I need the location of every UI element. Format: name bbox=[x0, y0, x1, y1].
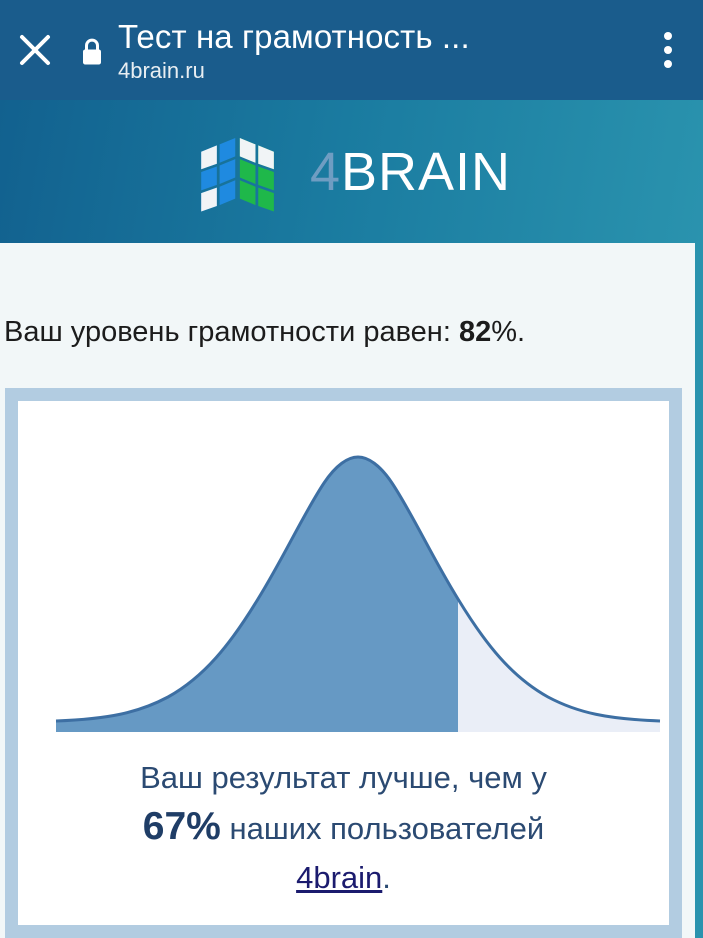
cube-logo-icon[interactable] bbox=[192, 126, 284, 218]
score-prefix: Ваш уровень грамотности равен: bbox=[4, 316, 451, 348]
caption-line-1: Ваш результат лучше, чем у bbox=[18, 753, 669, 802]
brand-word: BRAIN bbox=[341, 142, 511, 202]
brand-link[interactable]: 4brain bbox=[296, 860, 382, 895]
percentile-value: 67% bbox=[143, 805, 221, 848]
brand-number: 4 bbox=[310, 142, 341, 202]
site-header-banner: 4BRAIN bbox=[0, 100, 703, 243]
caption-line-2: 67% наших пользователей bbox=[18, 802, 669, 853]
page-content: Ваш уровень грамотности равен: 82%. bbox=[0, 243, 695, 938]
percentile-caption: Ваш результат лучше, чем у 67% наших пол… bbox=[18, 753, 669, 902]
caption-line-2-rest: наших пользователей bbox=[229, 811, 544, 846]
close-icon bbox=[15, 30, 55, 70]
caption-line-3: 4brain. bbox=[18, 853, 669, 902]
close-button[interactable] bbox=[0, 0, 70, 100]
score-value: 82 bbox=[459, 316, 491, 348]
bell-curve-chart bbox=[18, 401, 669, 748]
score-suffix: %. bbox=[491, 316, 525, 348]
page-url: 4brain.ru bbox=[118, 58, 633, 84]
more-vertical-icon bbox=[664, 32, 672, 40]
page-title: Тест на грамотность ... bbox=[118, 18, 633, 56]
toolbar-title-block[interactable]: Тест на грамотность ... 4brain.ru bbox=[114, 16, 633, 84]
custom-tab-toolbar: Тест на грамотность ... 4brain.ru bbox=[0, 0, 703, 100]
chart-inner: Ваш результат лучше, чем у 67% наших пол… bbox=[18, 401, 669, 925]
literacy-score-line: Ваш уровень грамотности равен: 82%. bbox=[4, 315, 684, 349]
distribution-chart-card: Ваш результат лучше, чем у 67% наших пол… bbox=[5, 388, 682, 938]
more-vertical-icon-dot2 bbox=[664, 46, 672, 54]
caption-period: . bbox=[382, 860, 391, 895]
right-edge-strip bbox=[695, 243, 703, 938]
more-vertical-icon-dot3 bbox=[664, 60, 672, 68]
security-lock[interactable] bbox=[70, 0, 114, 100]
overflow-menu-button[interactable] bbox=[633, 0, 703, 100]
brand-wordmark[interactable]: 4BRAIN bbox=[310, 145, 511, 199]
screen-root: Тест на грамотность ... 4brain.ru bbox=[0, 0, 703, 938]
lock-icon bbox=[79, 37, 105, 67]
